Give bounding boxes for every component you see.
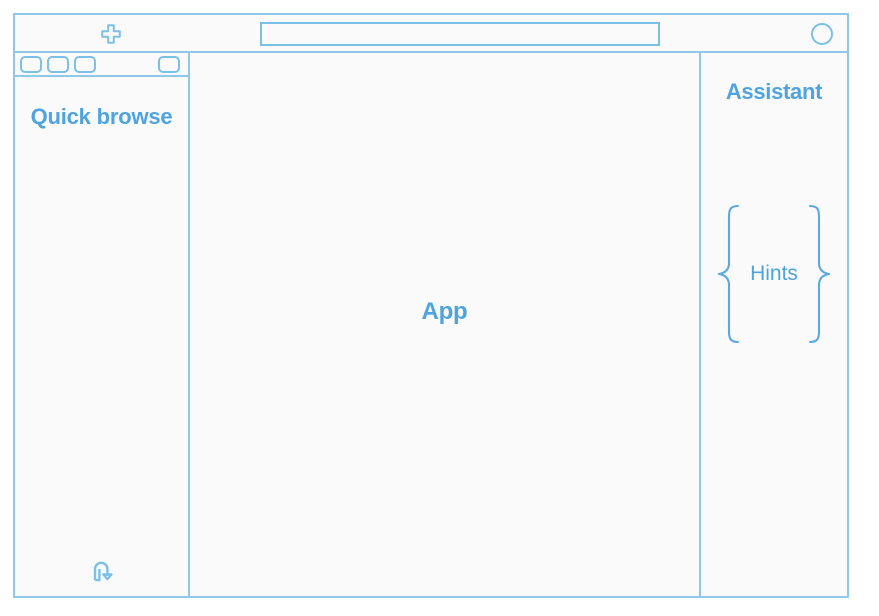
circle-avatar-icon [811,23,833,45]
sidebar-tool-2[interactable] [47,56,69,73]
wireframe-canvas: Quick browse App [0,0,879,616]
app-panel: App [190,53,701,596]
window-frame: Quick browse App [13,13,849,598]
sidebar-tool-3[interactable] [74,56,96,73]
sidebar-footer[interactable] [15,556,188,586]
sidebar-quick-browse: Quick browse [15,53,190,596]
new-tab-button[interactable] [100,23,122,45]
app-label: App [421,298,467,326]
assistant-title: Assistant [701,79,847,105]
window-body: Quick browse App [15,53,847,596]
sidebar-tool-1[interactable] [20,56,42,73]
plus-icon [100,23,122,45]
assistant-panel: Assistant Hints [701,53,847,596]
left-curly-brace-icon [716,203,742,345]
sidebar-content: Quick browse [15,77,188,596]
avatar[interactable] [811,23,833,45]
hints-label: Hints [742,262,806,286]
sidebar-title: Quick browse [15,103,188,131]
address-bar-input[interactable] [260,22,660,46]
browser-header-bar [15,15,847,53]
sidebar-toolbar [15,53,188,77]
sidebar-tool-4[interactable] [158,56,180,73]
right-curly-brace-icon [806,203,832,345]
u-turn-arrow-icon [87,556,117,586]
hints-block: Hints [709,201,839,346]
